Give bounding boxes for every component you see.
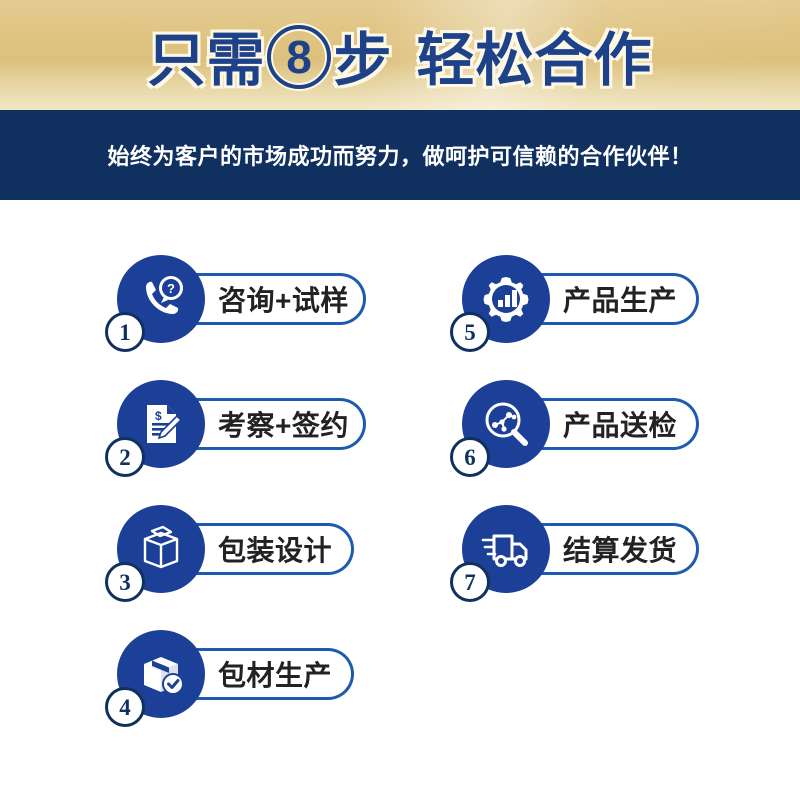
phone-question-icon: ? [133,271,189,327]
title-suffix: 步 [333,13,392,97]
step-number-badge-7: 7 [450,562,490,602]
subtitle-text: 始终为客户的市场成功而努力，做呵护可信赖的合作伙伴！ [107,139,692,171]
step-number-badge-5: 5 [450,312,490,352]
magnifier-molecule-icon [478,396,534,452]
step-label-text-6: 产品送检 [563,404,677,444]
box-check-icon [133,646,189,702]
step-item-7[interactable]: 7 结算发货 [445,494,745,604]
contract-pen-icon: $ [133,396,189,452]
step-label-text-4: 包材生产 [218,654,332,694]
title-prefix: 只需 [147,13,265,97]
step-item-4[interactable]: 4 包材生产 [100,619,400,729]
step-item-1[interactable]: ? 1 咨询+试样 [100,244,400,354]
header-gold-band: 只需8步轻松合作 [0,0,800,110]
title-circled-number: 8 [267,25,331,89]
open-box-icon [133,521,189,577]
page-title: 只需8步轻松合作 [0,0,800,110]
svg-text:$: $ [155,409,162,423]
gear-chart-icon [478,271,534,327]
step-number-badge-1: 1 [105,312,145,352]
step-number-badge-2: 2 [105,437,145,477]
step-label-text-2: 考察+签约 [218,404,349,444]
steps-section: ? 1 咨询+试样 $ 2 考察 [0,200,800,795]
step-item-5[interactable]: 5 产品生产 [445,244,745,354]
delivery-truck-icon [478,521,534,577]
step-item-2[interactable]: $ 2 考察+签约 [100,369,400,479]
step-item-3[interactable]: 3 包装设计 [100,494,400,604]
step-number-badge-6: 6 [450,437,490,477]
step-label-text-5: 产品生产 [563,279,677,319]
step-number-badge-4: 4 [105,687,145,727]
subtitle-band: 始终为客户的市场成功而努力，做呵护可信赖的合作伙伴！ [0,110,800,200]
step-item-6[interactable]: 6 产品送检 [445,369,745,479]
svg-text:?: ? [167,281,175,296]
step-label-text-3: 包装设计 [218,529,332,569]
step-label-text-1: 咨询+试样 [218,279,349,319]
step-number-badge-3: 3 [105,562,145,602]
title-second-phrase: 轻松合作 [417,13,653,97]
step-label-text-7: 结算发货 [563,529,677,569]
